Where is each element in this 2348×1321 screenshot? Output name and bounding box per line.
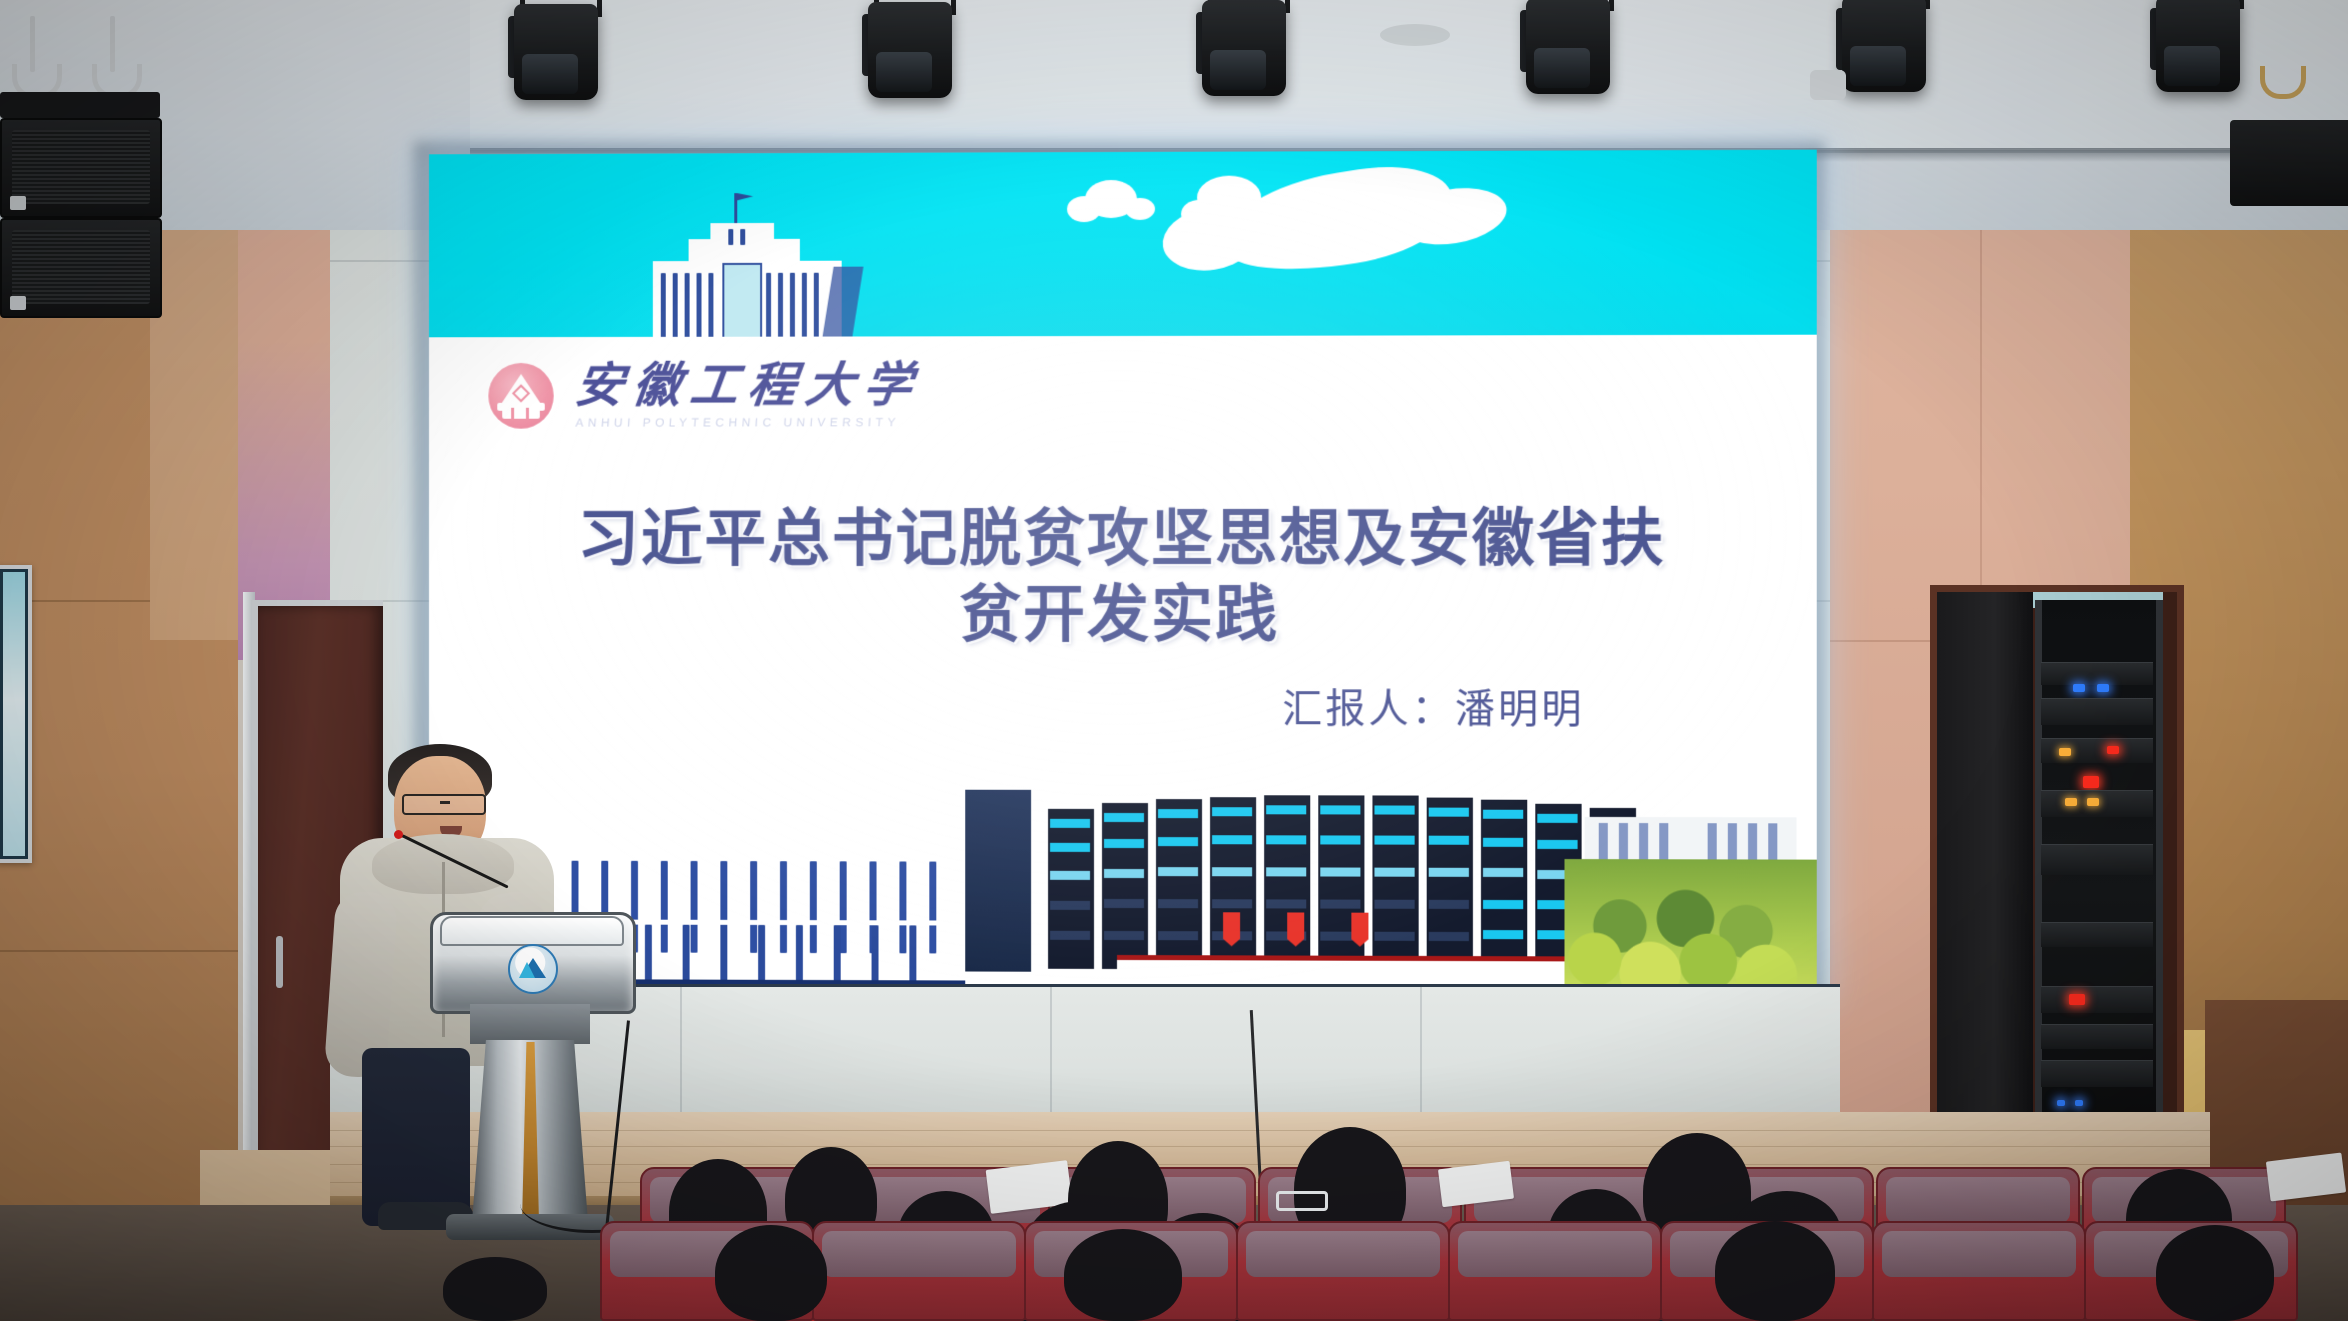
slide-title-line-2: 贫开发实践 [512, 577, 1732, 653]
handout-paper [2266, 1153, 2346, 1202]
line-array-speaker-left [0, 18, 160, 328]
stage-light-5 [1836, 0, 1932, 96]
smoke-detector-icon [1810, 70, 1846, 100]
projection-screen: 安徽工程大学 ANHUI POLYTECHNIC UNIVERSITY 习近平总… [429, 150, 1817, 989]
stage-light-2 [862, 0, 958, 102]
stage-light-1 [508, 0, 604, 104]
seat[interactable] [1236, 1221, 1450, 1321]
slide-sky-building-illustration [625, 205, 923, 341]
audience-member [1048, 1229, 1198, 1321]
seat[interactable] [1872, 1221, 2086, 1321]
audience-member [1700, 1221, 1850, 1321]
slide-title-line-1: 习近平总书记脱贫攻坚思想及安徽省扶 [512, 501, 1732, 577]
university-crest-icon [488, 363, 553, 429]
seat[interactable] [1448, 1221, 1662, 1321]
stage-light-3 [1196, 0, 1292, 100]
stage-light-6 [2150, 0, 2246, 96]
university-name-en: ANHUI POLYTECHNIC UNIVERSITY [575, 415, 922, 429]
campus-main-building [965, 786, 1657, 988]
audience-area [0, 1080, 2348, 1321]
campus-greenery-photo [1564, 815, 1816, 988]
university-logo-row: 安徽工程大学 ANHUI POLYTECHNIC UNIVERSITY [488, 362, 921, 429]
slide-campus-photo-strip [429, 785, 1817, 989]
audience-member [2140, 1225, 2290, 1321]
microphone-windscreen [394, 830, 403, 839]
slide-presenter-line: 汇报人：潘明明 [1282, 676, 1584, 734]
ceiling-soffit [470, 0, 2348, 153]
slide-title: 习近平总书记脱贫攻坚思想及安徽省扶 贫开发实践 [512, 501, 1732, 653]
slide-content-area: 安徽工程大学 ANHUI POLYTECHNIC UNIVERSITY 习近平总… [429, 335, 1817, 989]
glasses-icon [402, 794, 486, 815]
door-handle-icon[interactable] [276, 936, 283, 988]
seat[interactable] [812, 1221, 1026, 1321]
line-array-speaker-right [2230, 120, 2348, 260]
university-name-cn: 安徽工程大学 [573, 362, 925, 411]
slide-sky-band [429, 150, 1817, 339]
wall-framed-sign [0, 565, 32, 863]
audience-member [430, 1257, 560, 1321]
cloud-icon [1217, 155, 1459, 283]
audience-member [700, 1225, 842, 1321]
podium-crest-icon [508, 944, 558, 994]
ceiling-fixture [1380, 24, 1450, 46]
auditorium-scene: 安徽工程大学 ANHUI POLYTECHNIC UNIVERSITY 习近平总… [0, 0, 2348, 1321]
